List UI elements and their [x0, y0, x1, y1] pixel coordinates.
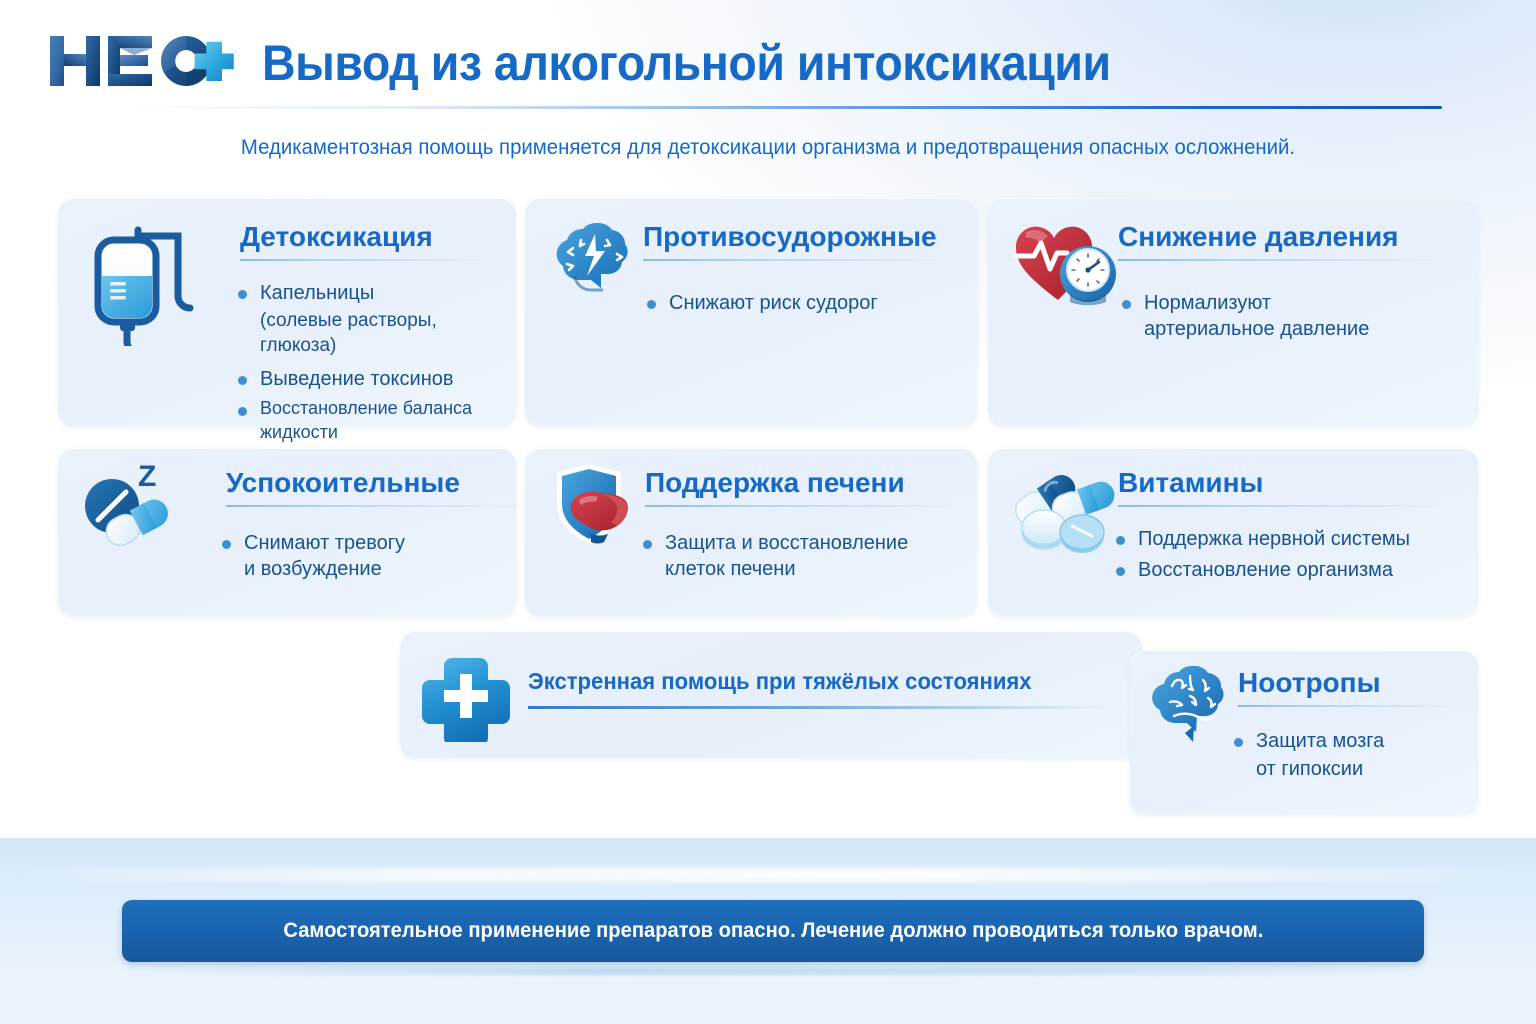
bullet-text: Защита и восстановление: [665, 532, 908, 554]
list-item: Снимают тревогу: [218, 530, 518, 556]
page-title: Вывод из алкогольной интоксикации: [262, 34, 1111, 92]
list-item-continuation: клеток печени: [639, 556, 969, 582]
card-title-underline: [643, 259, 953, 261]
pills-capsules-icon: [1000, 458, 1120, 563]
card-title: Успокоительные: [226, 468, 526, 499]
header-divider: [112, 106, 1442, 109]
card-nootropics[interactable]: Ноотропы Защита мозга от гипоксии: [1130, 650, 1478, 814]
card-title: Снижение давления: [1118, 222, 1448, 253]
bullet-text: Снижают риск судорог: [669, 292, 878, 314]
card-title: Противосудорожные: [643, 222, 953, 253]
card-title-underline: [226, 505, 526, 507]
bullet-dot: [647, 300, 656, 309]
bullet-dot: [238, 290, 247, 299]
heart-pressure-gauge-icon: [1010, 216, 1120, 327]
bullet-dot: [222, 540, 231, 549]
medical-cross-icon: [422, 654, 510, 747]
bullet-text: Восстановление организма: [1138, 559, 1393, 581]
list-item: Выведение токсинов: [234, 366, 496, 392]
emergency-help-panel[interactable]: Экстренная помощь при тяжёлых состояниях: [400, 632, 1142, 758]
bullet-text: клеток печени: [665, 558, 796, 580]
emergency-underline: [528, 706, 1108, 709]
list-item: Восстановление баланса жидкости: [234, 397, 496, 445]
card-title: Ноотропы: [1238, 668, 1460, 699]
card-title-underline: [1238, 705, 1460, 707]
bullet-dot: [1116, 567, 1125, 576]
footer-sheen-highlight-secondary: [120, 968, 1436, 975]
card-title: Детоксикация: [240, 222, 492, 253]
bullet-text: Снимают тревогу: [244, 532, 405, 554]
card-title: Витамины: [1118, 468, 1448, 499]
card-blood-pressure[interactable]: Снижение давления Нормализуют артериальн…: [988, 198, 1478, 426]
pill-capsule-sleep-icon: Z: [74, 458, 182, 559]
footer-sheen-highlight: [0, 868, 1536, 882]
bullet-dot: [238, 376, 247, 385]
neo-plus-logo: [48, 30, 244, 92]
svg-text:Z: Z: [138, 460, 156, 493]
warning-text: Самостоятельное применение препаратов оп…: [283, 919, 1263, 943]
page-subtitle: Медикаментозная помощь применяется для д…: [23, 136, 1513, 160]
card-anticonvulsants[interactable]: Противосудорожные Снижают риск судорог: [525, 198, 977, 426]
bullet-dot: [1234, 738, 1243, 747]
card-detox[interactable]: Детоксикация Капельницы (солевые раствор…: [58, 198, 516, 426]
bullet-dot: [1116, 536, 1125, 545]
bullet-text: Нормализуют: [1144, 292, 1271, 314]
iv-drip-icon: [80, 216, 200, 351]
bullet-text: Капельницы: [260, 282, 374, 304]
list-item-continuation: и возбуждение: [218, 556, 518, 582]
card-vitamins[interactable]: Витамины Поддержка нервной системы Восст…: [988, 448, 1478, 616]
list-item: Капельницы: [234, 280, 496, 306]
brain-icon: [1146, 658, 1242, 759]
bullet-dot: [238, 407, 247, 416]
warning-banner: Самостоятельное применение препаратов оп…: [122, 900, 1424, 962]
list-item: Поддержка нервной системы: [1112, 526, 1462, 552]
list-item: Восстановление организма: [1112, 557, 1462, 583]
list-item: Нормализуют: [1118, 290, 1458, 316]
bullet-text: от гипоксии: [1256, 758, 1363, 780]
bullet-dot: [643, 540, 652, 549]
list-item-continuation: артериальное давление: [1118, 316, 1458, 342]
card-sedatives[interactable]: Z Успокоительные Снимают тревогу и возбу…: [58, 448, 516, 616]
bullet-text: и возбуждение: [244, 558, 382, 580]
bullet-dot: [1122, 300, 1131, 309]
list-item: Защита и восстановление: [639, 530, 969, 556]
card-title-underline: [645, 505, 963, 507]
card-title-underline: [240, 259, 492, 261]
card-liver-support[interactable]: Поддержка печени Защита и восстановление…: [525, 448, 977, 616]
bullet-text: Защита мозга: [1256, 730, 1384, 752]
card-title-underline: [1118, 505, 1448, 507]
list-item: Снижают риск судорог: [643, 290, 943, 316]
bullet-text: Выведение токсинов: [260, 368, 454, 390]
list-item: Защита мозга: [1230, 728, 1462, 754]
brain-lightning-icon: [545, 220, 645, 317]
shield-liver-icon: [543, 460, 647, 565]
list-item-continuation: от гипоксии: [1230, 756, 1462, 782]
bullet-text: артериальное давление: [1144, 318, 1369, 340]
bullet-text: Восстановление баланса жидкости: [260, 398, 472, 442]
card-title-underline: [1118, 259, 1448, 261]
card-title: Поддержка печени: [645, 468, 963, 499]
page-header: Вывод из алкогольной интоксикации: [0, 0, 1536, 112]
bullet-text: Поддержка нервной системы: [1138, 528, 1410, 550]
detox-note: (солевые растворы, глюкоза): [260, 309, 496, 358]
emergency-help-label: Экстренная помощь при тяжёлых состояниях: [528, 668, 1032, 695]
